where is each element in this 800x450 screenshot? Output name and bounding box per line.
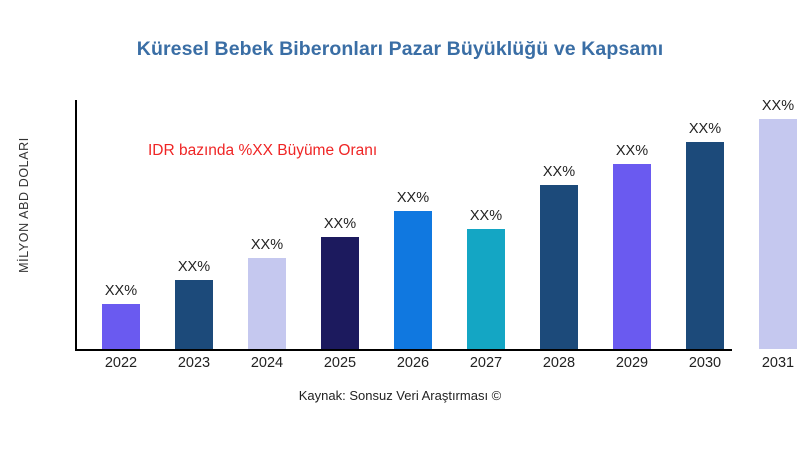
x-tick-2024: 2024 xyxy=(232,355,302,371)
bar-value-label-2024: XX% xyxy=(251,237,283,253)
bar-2027[interactable] xyxy=(467,229,505,349)
bar-group-2026[interactable]: XX% xyxy=(394,181,432,349)
y-axis-label-wrapper: MİLYON ABD DOLARI xyxy=(11,60,37,350)
bar-value-label-2030: XX% xyxy=(689,121,721,137)
bar-value-label-2031: XX% xyxy=(762,98,794,114)
bar-2023[interactable] xyxy=(175,280,213,349)
y-axis-line xyxy=(75,100,77,351)
bar-2029[interactable] xyxy=(613,164,651,349)
x-axis-line xyxy=(75,349,732,351)
x-tick-2031: 2031 xyxy=(743,355,800,371)
x-tick-2029: 2029 xyxy=(597,355,667,371)
x-tick-2022: 2022 xyxy=(86,355,156,371)
growth-rate-annotation: IDR bazında %XX Büyüme Oranı xyxy=(148,142,377,160)
bar-group-2028[interactable]: XX% xyxy=(540,155,578,349)
x-tick-2023: 2023 xyxy=(159,355,229,371)
x-tick-2030: 2030 xyxy=(670,355,740,371)
bar-value-label-2028: XX% xyxy=(543,164,575,180)
bar-value-label-2025: XX% xyxy=(324,216,356,232)
x-tick-2027: 2027 xyxy=(451,355,521,371)
x-axis-tick-labels: 2022202320242025202620272028202920302031 xyxy=(75,355,785,377)
chart-title: Küresel Bebek Biberonları Pazar Büyüklüğ… xyxy=(0,38,800,61)
bar-value-label-2023: XX% xyxy=(178,259,210,275)
y-axis-label: MİLYON ABD DOLARI xyxy=(17,137,31,273)
bar-group-2030[interactable]: XX% xyxy=(686,112,724,349)
x-tick-2026: 2026 xyxy=(378,355,448,371)
source-caption: Kaynak: Sonsuz Veri Araştırması © xyxy=(0,388,800,403)
x-tick-2025: 2025 xyxy=(305,355,375,371)
bar-group-2022[interactable]: XX% xyxy=(102,274,140,349)
bar-2028[interactable] xyxy=(540,185,578,349)
bar-2025[interactable] xyxy=(321,237,359,349)
bar-group-2029[interactable]: XX% xyxy=(613,134,651,349)
bar-value-label-2026: XX% xyxy=(397,190,429,206)
bar-group-2027[interactable]: XX% xyxy=(467,199,505,349)
bar-value-label-2022: XX% xyxy=(105,283,137,299)
bar-group-2023[interactable]: XX% xyxy=(175,250,213,349)
bar-value-label-2027: XX% xyxy=(470,208,502,224)
bar-group-2024[interactable]: XX% xyxy=(248,228,286,349)
bar-2031[interactable] xyxy=(759,119,797,349)
bar-2026[interactable] xyxy=(394,211,432,349)
bar-group-2025[interactable]: XX% xyxy=(321,207,359,349)
bar-2030[interactable] xyxy=(686,142,724,349)
bar-group-2031[interactable]: XX% xyxy=(759,89,797,349)
bar-2022[interactable] xyxy=(102,304,140,349)
plot-area: XX%XX%XX%XX%XX%XX%XX%XX%XX%XX% xyxy=(75,100,785,350)
chart-container: Küresel Bebek Biberonları Pazar Büyüklüğ… xyxy=(0,0,800,450)
bar-2024[interactable] xyxy=(248,258,286,349)
x-tick-2028: 2028 xyxy=(524,355,594,371)
bar-value-label-2029: XX% xyxy=(616,143,648,159)
